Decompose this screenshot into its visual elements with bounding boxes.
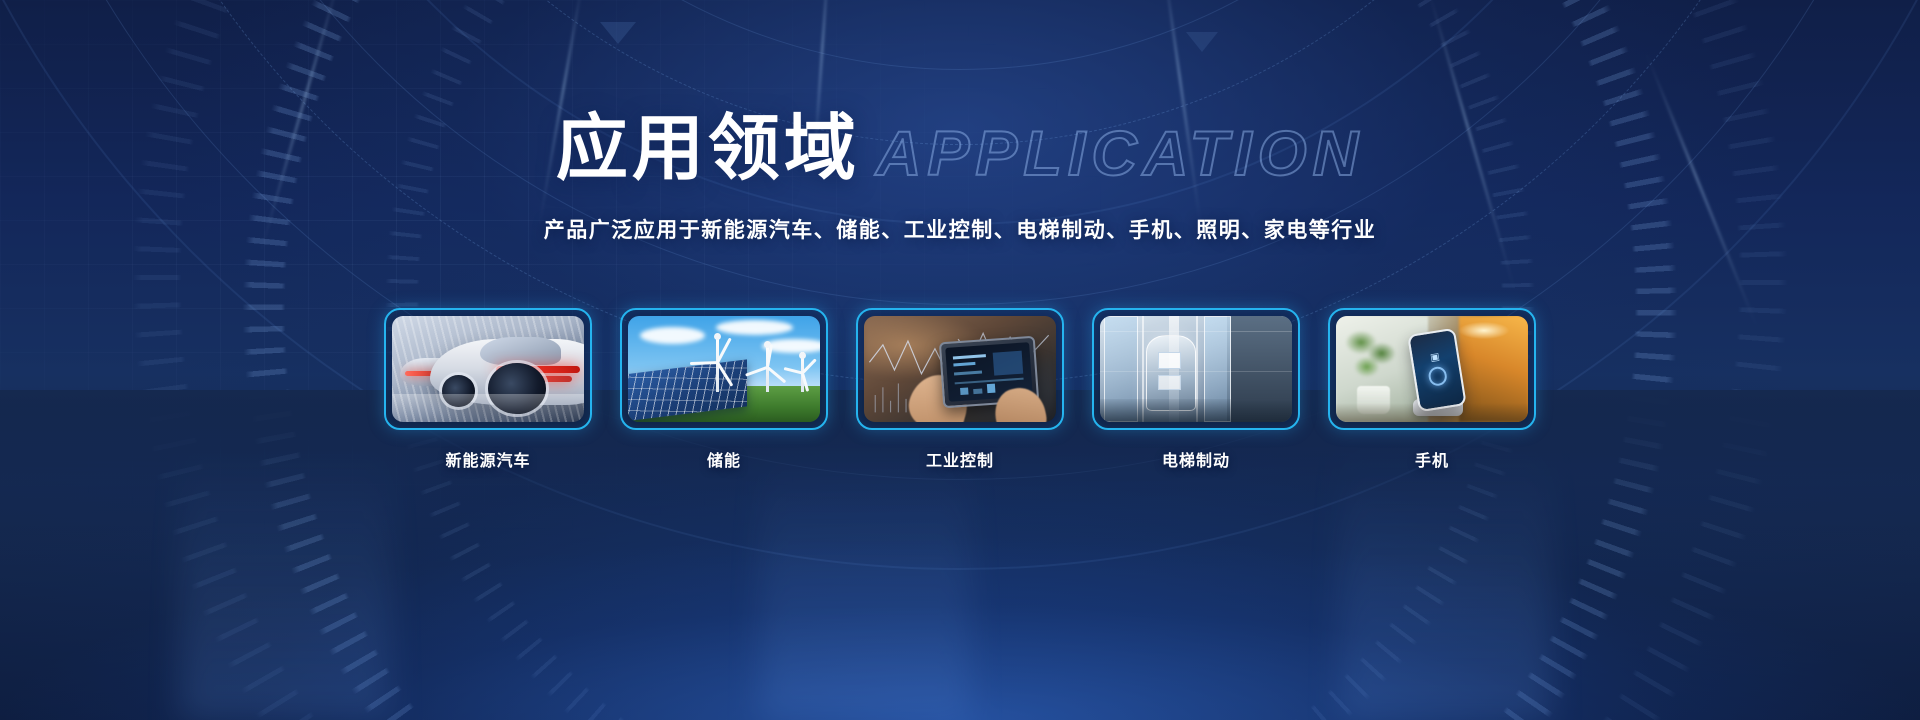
battery-icon: ▣ <box>1429 352 1440 364</box>
application-card-elevator-brake[interactable]: 电梯制动 <box>1092 308 1300 471</box>
application-card-row: 新能源汽车 <box>0 308 1920 471</box>
application-card-energy-storage[interactable]: 储能 <box>620 308 828 471</box>
banner-subtitle: 产品广泛应用于新能源汽车、储能、工业控制、电梯制动、手机、照明、家电等行业 <box>0 214 1920 244</box>
card-label: 储能 <box>707 447 741 471</box>
elevator-thumb <box>1100 316 1292 422</box>
wind-solar-thumb <box>628 316 820 422</box>
card-label: 新能源汽车 <box>445 447 530 471</box>
industrial-control-thumb <box>864 316 1056 422</box>
card-frame[interactable] <box>620 308 828 430</box>
application-card-ev-car[interactable]: 新能源汽车 <box>384 308 592 471</box>
smartphone-thumb: ▣ <box>1336 316 1528 422</box>
application-card-industrial-control[interactable]: 工业控制 <box>856 308 1064 471</box>
ev-car-thumb <box>392 316 584 422</box>
card-label: 手机 <box>1415 447 1449 471</box>
banner-heading-block: 应用领域 APPLICATION 产品广泛应用于新能源汽车、储能、工业控制、电梯… <box>0 112 1920 244</box>
card-frame[interactable]: ▣ <box>1328 308 1536 430</box>
charging-ring-icon <box>1427 365 1448 386</box>
title-row: 应用领域 APPLICATION <box>0 112 1920 184</box>
application-banner: 应用领域 APPLICATION 产品广泛应用于新能源汽车、储能、工业控制、电梯… <box>0 0 1920 720</box>
page-title-cn: 应用领域 <box>556 112 860 184</box>
application-card-smartphone[interactable]: ▣ 手机 <box>1328 308 1536 471</box>
card-frame[interactable] <box>1092 308 1300 430</box>
card-frame[interactable] <box>384 308 592 430</box>
card-frame[interactable] <box>856 308 1064 430</box>
card-label: 工业控制 <box>926 447 994 471</box>
page-title-en: APPLICATION <box>876 123 1364 186</box>
card-label: 电梯制动 <box>1162 447 1230 471</box>
